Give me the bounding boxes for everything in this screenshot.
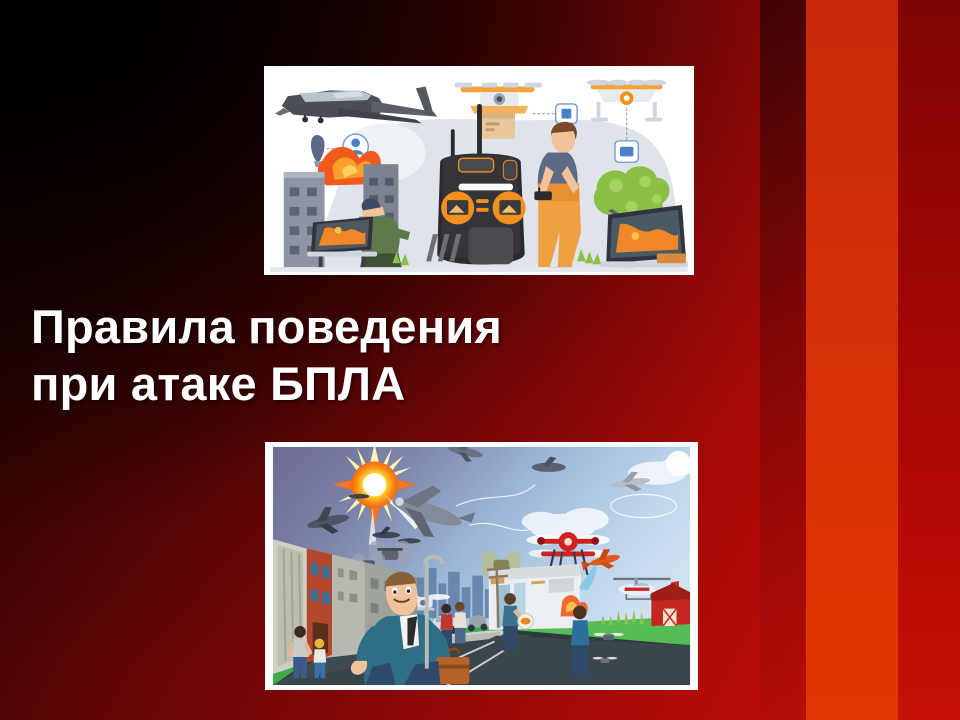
slide-title: Правила поведения при атаке БПЛА xyxy=(31,298,731,412)
drone-technology-svg xyxy=(267,69,691,272)
drone-attack-city-illustration xyxy=(265,442,698,690)
background-stripe-dark xyxy=(760,0,806,720)
presentation-slide: Правила поведения при атаке БПЛА xyxy=(0,0,960,720)
drone-attack-city-svg xyxy=(269,446,694,686)
laptop-right xyxy=(600,205,691,267)
background-stripe-bright xyxy=(806,0,898,720)
background-stripe-right xyxy=(898,0,960,720)
drone-technology-illustration xyxy=(264,66,694,275)
